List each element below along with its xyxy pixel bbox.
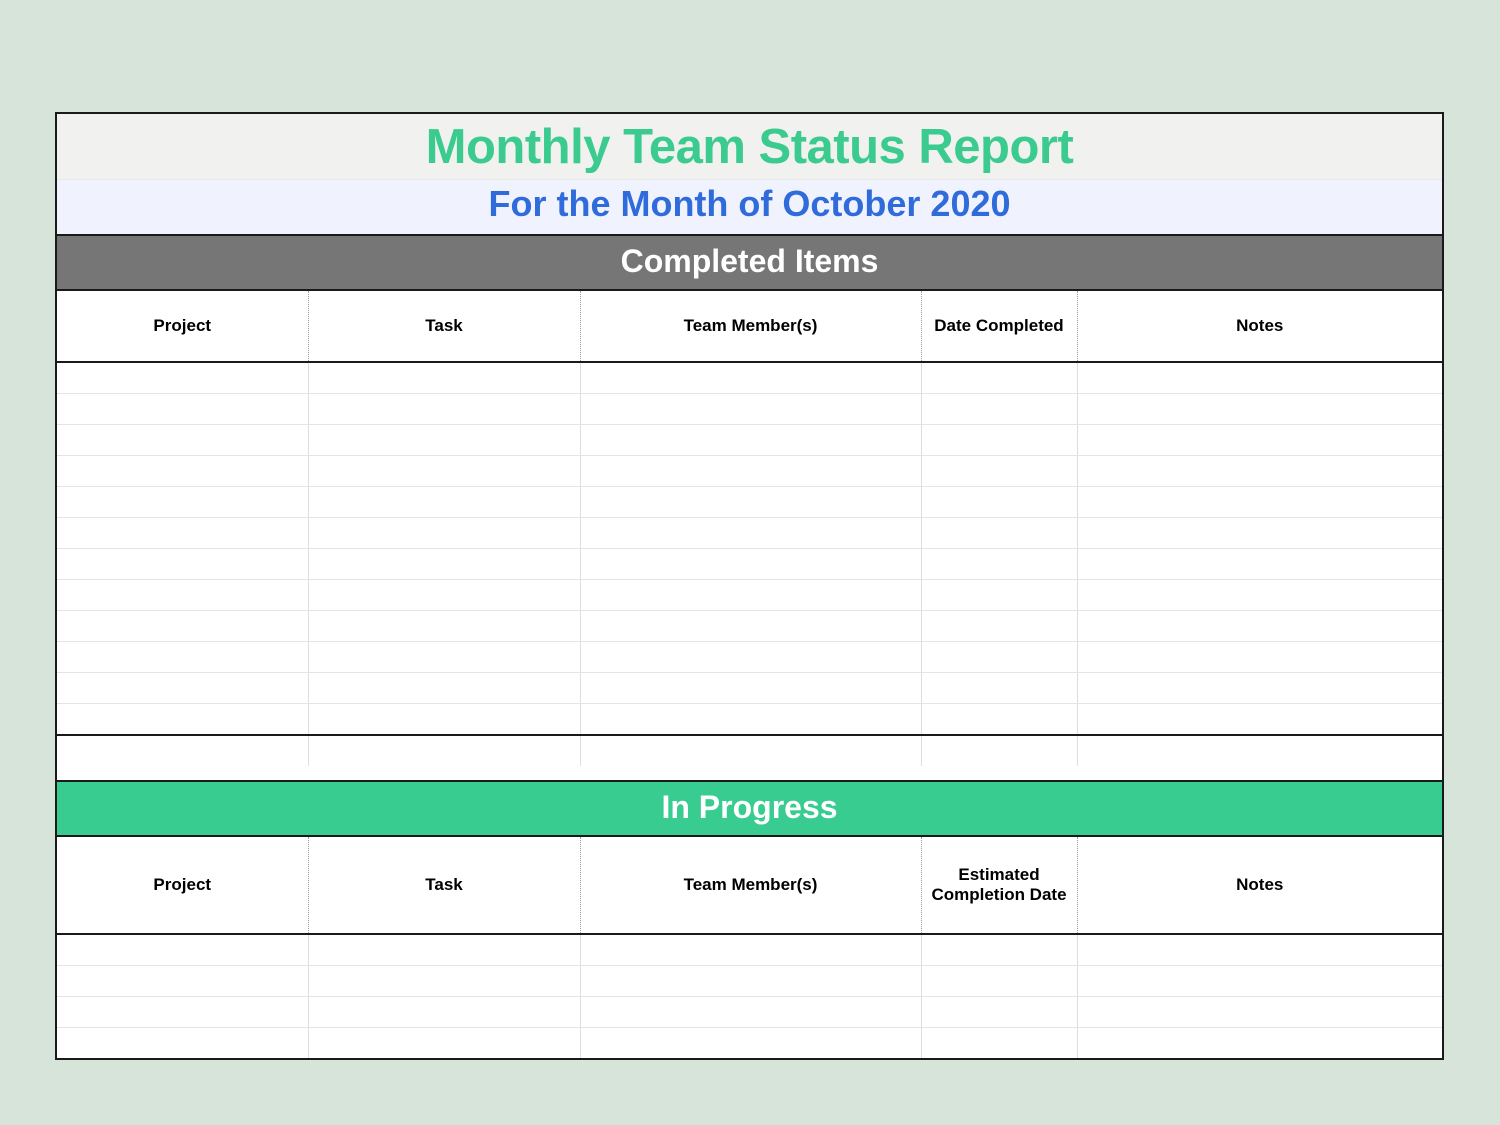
table-row[interactable] [57,934,1442,966]
cell-date-completed[interactable] [921,456,1077,487]
cell-team-members[interactable] [580,966,921,997]
cell-date-completed[interactable] [921,518,1077,549]
cell-date-completed[interactable] [921,580,1077,611]
cell-date-completed[interactable] [921,704,1077,736]
cell-estimated-completion-date[interactable] [921,997,1077,1028]
cell-project[interactable] [57,704,308,736]
cell-task[interactable] [308,704,580,736]
cell-project[interactable] [57,394,308,425]
cell-task[interactable] [308,673,580,704]
cell-team-members[interactable] [580,934,921,966]
cell-task[interactable] [308,425,580,456]
section-banner-completed-items: Completed Items [57,234,1442,291]
sheet-bottom-border [57,1058,1442,1060]
cell-date-completed[interactable] [921,487,1077,518]
cell-date-completed[interactable] [921,735,1077,766]
table-row[interactable] [57,580,1442,611]
table-row[interactable] [57,642,1442,673]
cell-team-members[interactable] [580,1028,921,1059]
cell-team-members[interactable] [580,997,921,1028]
column-header-project: Project [57,837,308,934]
cell-team-members[interactable] [580,735,921,766]
cell-project[interactable] [57,934,308,966]
column-header-task: Task [308,291,580,362]
cell-notes[interactable] [1077,966,1442,997]
table-row[interactable] [57,549,1442,580]
cell-project[interactable] [57,425,308,456]
cell-team-members[interactable] [580,394,921,425]
completed-items-table: Project Task Team Member(s) Date Complet… [57,291,1442,766]
table-row[interactable] [57,966,1442,997]
column-header-task: Task [308,837,580,934]
cell-project[interactable] [57,362,308,394]
cell-task[interactable] [308,611,580,642]
cell-team-members[interactable] [580,487,921,518]
cell-project[interactable] [57,518,308,549]
report-subtitle-row: For the Month of October 2020 [57,180,1442,234]
cell-notes[interactable] [1077,549,1442,580]
table-header-row: Project Task Team Member(s) Estimated Co… [57,837,1442,934]
cell-task[interactable] [308,642,580,673]
cell-notes[interactable] [1077,642,1442,673]
cell-notes[interactable] [1077,456,1442,487]
cell-task[interactable] [308,966,580,997]
cell-task[interactable] [308,1028,580,1059]
table-row[interactable] [57,518,1442,549]
cell-team-members[interactable] [580,362,921,394]
cell-notes[interactable] [1077,487,1442,518]
column-header-date-completed: Date Completed [921,291,1077,362]
cell-estimated-completion-date[interactable] [921,1028,1077,1059]
table-row[interactable] [57,997,1442,1028]
cell-date-completed[interactable] [921,394,1077,425]
cell-task[interactable] [308,580,580,611]
cell-date-completed[interactable] [921,642,1077,673]
cell-date-completed[interactable] [921,549,1077,580]
status-report-sheet: Monthly Team Status Report For the Month… [55,112,1444,1060]
cell-notes[interactable] [1077,735,1442,766]
cell-project[interactable] [57,966,308,997]
cell-team-members[interactable] [580,611,921,642]
cell-notes[interactable] [1077,518,1442,549]
cell-estimated-completion-date[interactable] [921,966,1077,997]
cell-date-completed[interactable] [921,362,1077,394]
cell-task[interactable] [308,735,580,766]
cell-project[interactable] [57,642,308,673]
page-title: Monthly Team Status Report [57,122,1442,173]
table-row[interactable] [57,456,1442,487]
column-header-notes: Notes [1077,291,1442,362]
cell-team-members[interactable] [580,704,921,736]
cell-notes[interactable] [1077,934,1442,966]
cell-project[interactable] [57,611,308,642]
table-row[interactable] [57,425,1442,456]
cell-task[interactable] [308,487,580,518]
cell-notes[interactable] [1077,580,1442,611]
cell-team-members[interactable] [580,518,921,549]
cell-notes[interactable] [1077,362,1442,394]
column-header-team-members: Team Member(s) [580,837,921,934]
cell-notes[interactable] [1077,611,1442,642]
column-header-project: Project [57,291,308,362]
cell-task[interactable] [308,456,580,487]
cell-task[interactable] [308,362,580,394]
cell-notes[interactable] [1077,704,1442,736]
cell-project[interactable] [57,673,308,704]
table-row[interactable] [57,735,1442,766]
cell-project[interactable] [57,580,308,611]
table-row[interactable] [57,673,1442,704]
cell-task[interactable] [308,934,580,966]
cell-notes[interactable] [1077,425,1442,456]
in-progress-table: Project Task Team Member(s) Estimated Co… [57,837,1442,1058]
column-header-team-members: Team Member(s) [580,291,921,362]
cell-team-members[interactable] [580,549,921,580]
column-header-estimated-completion-date: Estimated Completion Date [921,837,1077,934]
table-row[interactable] [57,1028,1442,1059]
cell-project[interactable] [57,1028,308,1059]
section-spacer [57,766,1442,780]
cell-notes[interactable] [1077,997,1442,1028]
cell-date-completed[interactable] [921,611,1077,642]
report-title-row: Monthly Team Status Report [57,114,1442,180]
cell-estimated-completion-date[interactable] [921,934,1077,966]
cell-project[interactable] [57,735,308,766]
in-progress-body [57,934,1442,1058]
cell-team-members[interactable] [580,642,921,673]
cell-task[interactable] [308,518,580,549]
cell-team-members[interactable] [580,673,921,704]
cell-notes[interactable] [1077,673,1442,704]
completed-items-body [57,362,1442,766]
cell-project[interactable] [57,997,308,1028]
table-row[interactable] [57,704,1442,736]
cell-team-members[interactable] [580,580,921,611]
cell-task[interactable] [308,394,580,425]
table-header-row: Project Task Team Member(s) Date Complet… [57,291,1442,362]
cell-team-members[interactable] [580,456,921,487]
cell-notes[interactable] [1077,394,1442,425]
cell-project[interactable] [57,456,308,487]
cell-notes[interactable] [1077,1028,1442,1059]
cell-team-members[interactable] [580,425,921,456]
column-header-notes: Notes [1077,837,1442,934]
cell-date-completed[interactable] [921,425,1077,456]
cell-project[interactable] [57,487,308,518]
page-subtitle: For the Month of October 2020 [57,184,1442,224]
cell-task[interactable] [308,549,580,580]
section-banner-in-progress: In Progress [57,780,1442,837]
table-row[interactable] [57,394,1442,425]
table-row[interactable] [57,362,1442,394]
table-row[interactable] [57,611,1442,642]
cell-project[interactable] [57,549,308,580]
cell-date-completed[interactable] [921,673,1077,704]
table-row[interactable] [57,487,1442,518]
cell-task[interactable] [308,997,580,1028]
